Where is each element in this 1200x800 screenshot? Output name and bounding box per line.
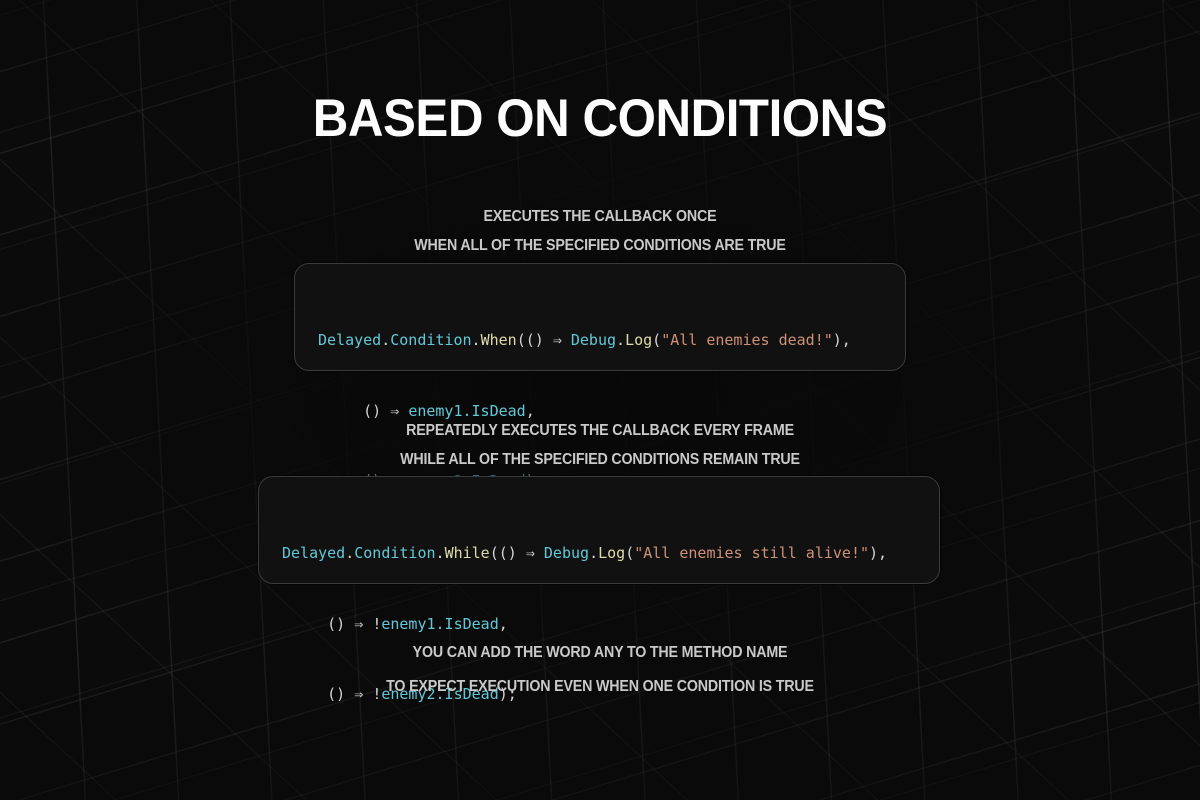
token-punct: . <box>616 331 625 349</box>
token-punct: ) <box>535 331 553 349</box>
token-arrow: ⇒ <box>553 331 562 349</box>
when-caption-line-1: EXECUTES THE CALLBACK ONCE <box>48 208 1152 226</box>
token-punct: ), <box>833 331 851 349</box>
token-type: Condition <box>354 544 435 562</box>
token-punct: (( <box>517 331 535 349</box>
token-space <box>399 402 408 420</box>
token-punct: ( <box>652 331 661 349</box>
code-line: () ⇒ enemy1.IsDead, <box>318 400 905 424</box>
token-punct: ) <box>508 544 526 562</box>
code-block-when: Delayed.Condition.When(() ⇒ Debug.Log("A… <box>294 263 906 371</box>
token-punct: ( <box>625 544 634 562</box>
code-block-while: Delayed.Condition.While(() ⇒ Debug.Log("… <box>258 476 940 584</box>
page-title: BASED ON CONDITIONS <box>42 88 1158 149</box>
token-negation: ! <box>372 615 381 633</box>
token-punct: . <box>345 544 354 562</box>
token-arrow: ⇒ <box>354 615 363 633</box>
token-expression: enemy1.IsDead <box>381 615 498 633</box>
code-line: () ⇒ !enemy1.IsDead, <box>282 613 939 637</box>
token-string: "All enemies still alive!" <box>634 544 869 562</box>
token-punct: . <box>589 544 598 562</box>
token-type: Debug <box>571 331 616 349</box>
token-type: Condition <box>390 331 471 349</box>
footer-note-line-1: YOU CAN ADD THE WORD ANY TO THE METHOD N… <box>48 644 1152 662</box>
token-punct: . <box>436 544 445 562</box>
token-type: Delayed <box>318 331 381 349</box>
code-line: Delayed.Condition.When(() ⇒ Debug.Log("A… <box>318 329 905 353</box>
footer-note-line-2: TO EXPECT EXECUTION EVEN WHEN ONE CONDIT… <box>48 678 1152 696</box>
token-punct: ), <box>869 544 887 562</box>
token-expression: enemy1.IsDead <box>408 402 525 420</box>
slide-content: BASED ON CONDITIONS EXECUTES THE CALLBAC… <box>0 0 1200 800</box>
token-punct: . <box>472 331 481 349</box>
token-method: Log <box>598 544 625 562</box>
token-punct: , <box>499 615 508 633</box>
token-punct: , <box>526 402 535 420</box>
token-type: Debug <box>544 544 589 562</box>
slide-canvas: BASED ON CONDITIONS EXECUTES THE CALLBAC… <box>0 0 1200 800</box>
token-string: "All enemies dead!" <box>661 331 833 349</box>
token-space <box>562 331 571 349</box>
token-space <box>363 615 372 633</box>
token-space <box>535 544 544 562</box>
while-caption-line-1: REPEATEDLY EXECUTES THE CALLBACK EVERY F… <box>48 422 1152 440</box>
when-caption-line-2: WHEN ALL OF THE SPECIFIED CONDITIONS ARE… <box>48 237 1152 255</box>
while-caption-line-2: WHILE ALL OF THE SPECIFIED CONDITIONS RE… <box>48 451 1152 469</box>
token-method: Log <box>625 331 652 349</box>
token-method: When <box>481 331 517 349</box>
token-punct: (( <box>490 544 508 562</box>
token-lambda: () <box>282 615 354 633</box>
code-line: Delayed.Condition.While(() ⇒ Debug.Log("… <box>282 542 939 566</box>
token-method: While <box>445 544 490 562</box>
token-lambda: () <box>318 402 390 420</box>
token-arrow: ⇒ <box>390 402 399 420</box>
token-punct: . <box>381 331 390 349</box>
token-arrow: ⇒ <box>526 544 535 562</box>
token-type: Delayed <box>282 544 345 562</box>
